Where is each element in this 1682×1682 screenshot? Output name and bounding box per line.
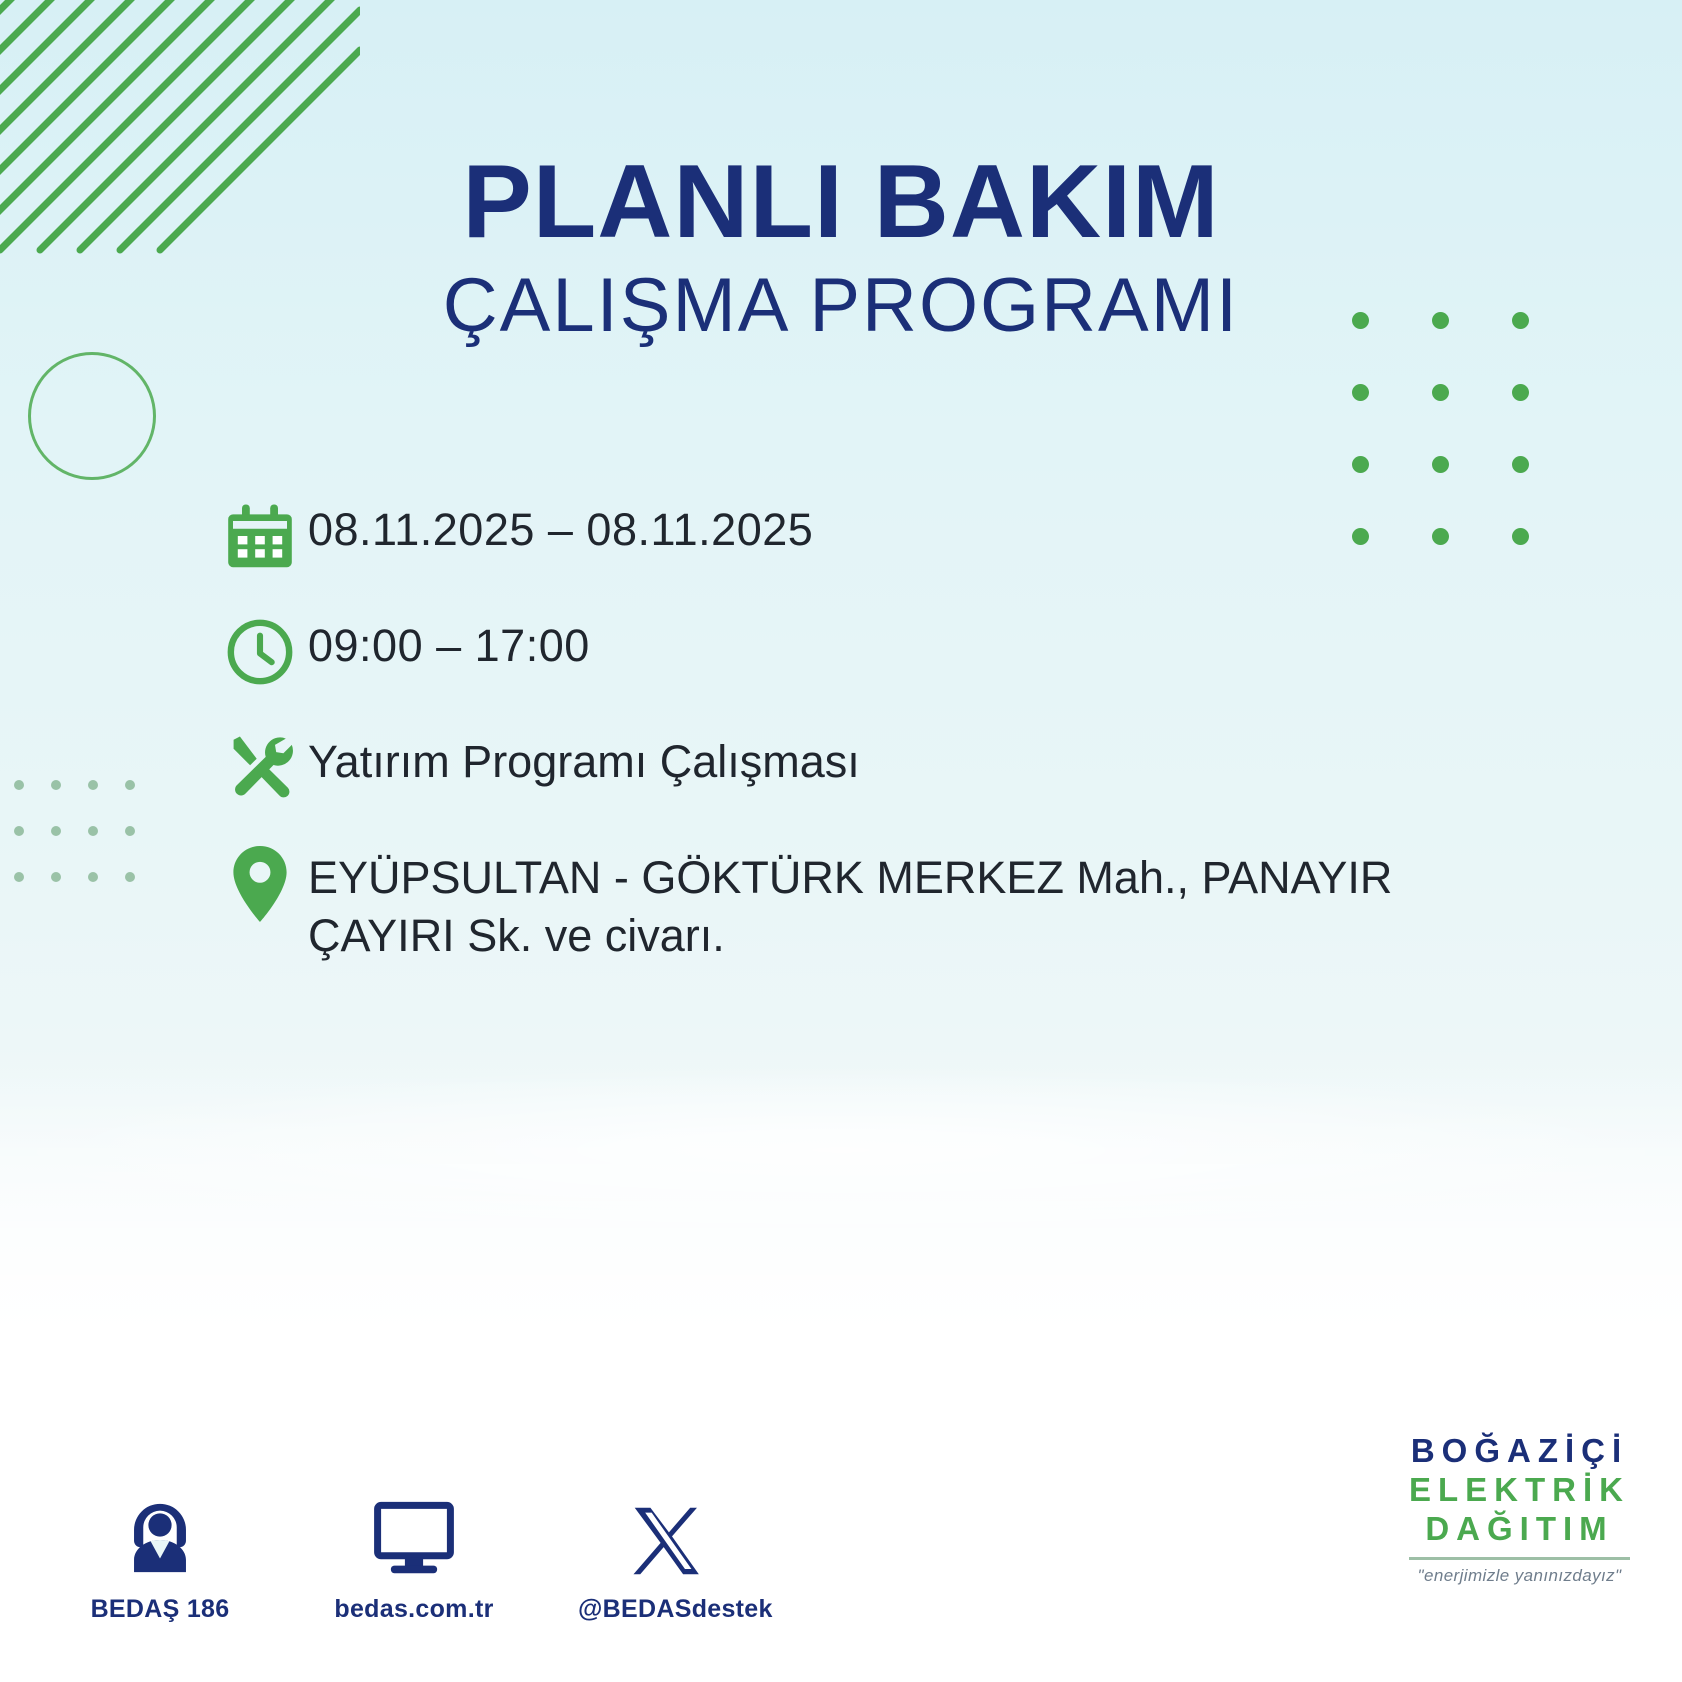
location-pin-icon xyxy=(212,843,308,925)
call-center-agent-icon xyxy=(70,1493,250,1579)
footer-item-website[interactable]: bedas.com.tr xyxy=(324,1493,504,1624)
footer-item-phone[interactable]: BEDAŞ 186 xyxy=(70,1493,250,1624)
x-twitter-icon xyxy=(578,1493,758,1579)
info-list: 08.11.2025 – 08.11.2025 09:00 – 17:00 Ya… xyxy=(212,495,1492,964)
brand-tagline: "enerjimizle yanınızdayız" xyxy=(1409,1566,1630,1586)
info-row-time: 09:00 – 17:00 xyxy=(212,611,1492,693)
info-row-work-type: Yatırım Programı Çalışması xyxy=(212,727,1492,809)
calendar-icon xyxy=(212,495,308,577)
dot-grid-decoration-left xyxy=(14,780,162,918)
info-row-date: 08.11.2025 – 08.11.2025 xyxy=(212,495,1492,577)
footer-label-x: @BEDASdestek xyxy=(578,1595,758,1624)
brand-line-2: ELEKTRİK xyxy=(1409,1471,1630,1510)
brand-divider xyxy=(1409,1557,1630,1560)
circle-outline-decoration xyxy=(28,352,156,480)
brand-line-1: BOĞAZİÇİ xyxy=(1409,1432,1630,1471)
poster-canvas: PLANLI BAKIM ÇALIŞMA PROGRAMI xyxy=(0,0,1682,1682)
work-type-text: Yatırım Programı Çalışması xyxy=(308,727,1492,791)
page-title: PLANLI BAKIM xyxy=(0,150,1682,254)
tools-icon xyxy=(212,727,308,809)
footer-label-phone: BEDAŞ 186 xyxy=(70,1595,250,1624)
monitor-icon xyxy=(324,1493,504,1579)
address-text: EYÜPSULTAN - GÖKTÜRK MERKEZ Mah., PANAYI… xyxy=(308,843,1438,964)
info-row-address: EYÜPSULTAN - GÖKTÜRK MERKEZ Mah., PANAYI… xyxy=(212,843,1492,964)
footer-contacts: BEDAŞ 186 bedas.com.tr @BEDASdestek xyxy=(70,1493,758,1624)
footer-item-x[interactable]: @BEDASdestek xyxy=(578,1493,758,1624)
footer-label-website: bedas.com.tr xyxy=(324,1595,504,1624)
brand-line-3: DAĞITIM xyxy=(1409,1510,1630,1549)
date-range-text: 08.11.2025 – 08.11.2025 xyxy=(308,495,1492,559)
sheen-overlay xyxy=(0,1060,1682,1240)
clock-icon xyxy=(212,611,308,693)
page-subtitle: ÇALIŞMA PROGRAMI xyxy=(0,268,1682,344)
brand-logo: BOĞAZİÇİ ELEKTRİK DAĞITIM "enerjimizle y… xyxy=(1409,1432,1630,1586)
time-range-text: 09:00 – 17:00 xyxy=(308,611,1492,675)
page-title-block: PLANLI BAKIM ÇALIŞMA PROGRAMI xyxy=(0,150,1682,344)
